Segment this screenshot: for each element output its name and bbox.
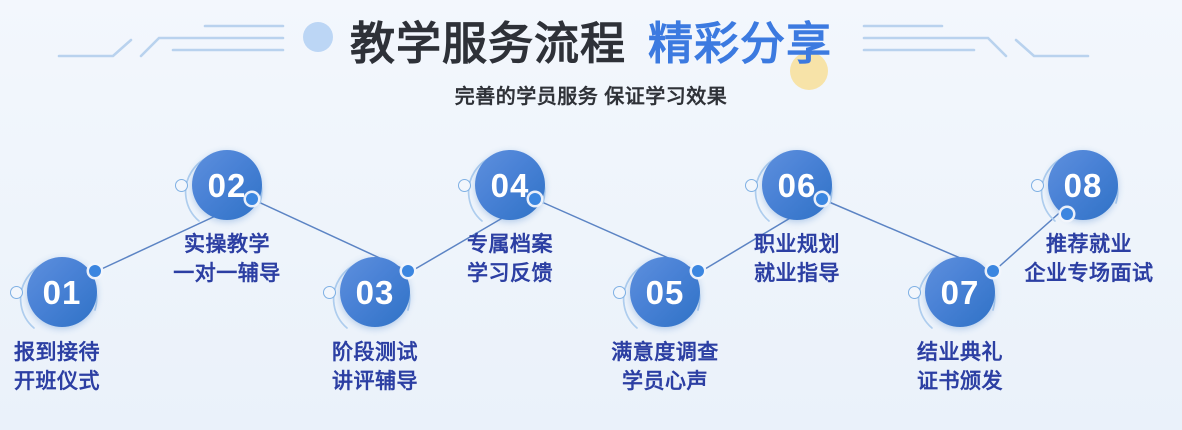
node-disc-2: 02 [192,150,262,220]
node-number-2: 02 [208,169,247,202]
node-hollow-dot-icon [323,286,336,299]
flow-label-3-line1: 阶段测试 [290,338,460,367]
flow-label-4-line2: 学习反馈 [425,259,595,288]
node-hollow-dot-icon [1031,179,1044,192]
flow-label-4-line1: 专属档案 [425,230,595,259]
node-disc-8: 08 [1048,150,1118,220]
flow-label-4: 专属档案 学习反馈 [425,230,595,288]
node-number-6: 06 [778,169,817,202]
node-number-7: 07 [941,276,980,309]
node-hollow-dot-icon [613,286,626,299]
infographic-canvas: 教学服务流程精彩分享 完善的学员服务 保证学习效果 01 [0,0,1182,430]
page-title-accent: 精彩分享 [648,14,832,74]
node-connector-dot-1 [89,265,101,277]
flow-label-8-line1: 推荐就业 [1000,230,1178,259]
node-number-3: 03 [356,276,395,309]
flow-label-2-line2: 一对一辅导 [142,259,312,288]
node-disc-1: 01 [27,257,97,327]
node-hollow-dot-icon [175,179,188,192]
flow-label-6: 职业规划 就业指导 [712,230,882,288]
flow-label-2: 实操教学 一对一辅导 [142,230,312,288]
node-connector-dot-6 [816,193,828,205]
node-connector-dot-2 [246,193,258,205]
node-disc-3: 03 [340,257,410,327]
node-hollow-dot-icon [10,286,23,299]
flow-label-1-line1: 报到接待 [0,338,142,367]
flow-label-3-line2: 讲评辅导 [290,367,460,396]
flow-label-7-line2: 证书颁发 [875,367,1045,396]
node-disc-4: 04 [475,150,545,220]
node-disc-6: 06 [762,150,832,220]
flow-label-5-line2: 学员心声 [580,367,750,396]
node-hollow-dot-icon [458,179,471,192]
node-hollow-dot-icon [908,286,921,299]
node-connector-dot-3 [402,265,414,277]
node-hollow-dot-icon [745,179,758,192]
flow-label-7-line1: 结业典礼 [875,338,1045,367]
flow-label-2-line1: 实操教学 [142,230,312,259]
flow-label-8: 推荐就业 企业专场面试 [1000,230,1178,288]
node-disc-7: 07 [925,257,995,327]
flow-label-8-line2: 企业专场面试 [1000,259,1178,288]
node-connector-dot-7 [987,265,999,277]
node-number-1: 01 [43,276,82,309]
flow-label-3: 阶段测试 讲评辅导 [290,338,460,396]
node-connector-dot-4 [529,193,541,205]
node-connector-dot-5 [692,265,704,277]
node-number-4: 04 [491,169,530,202]
node-number-8: 08 [1064,169,1103,202]
flow-label-6-line2: 就业指导 [712,259,882,288]
flow-label-7: 结业典礼 证书颁发 [875,338,1045,396]
flow-label-1-line2: 开班仪式 [0,367,142,396]
flow-label-6-line1: 职业规划 [712,230,882,259]
node-connector-dot-8 [1061,208,1073,220]
node-number-5: 05 [646,276,685,309]
page-title-main: 教学服务流程 [350,14,626,74]
flow-label-5-line1: 满意度调查 [580,338,750,367]
flow-label-5: 满意度调查 学员心声 [580,338,750,396]
flow-label-1: 报到接待 开班仪式 [0,338,142,396]
node-disc-5: 05 [630,257,700,327]
